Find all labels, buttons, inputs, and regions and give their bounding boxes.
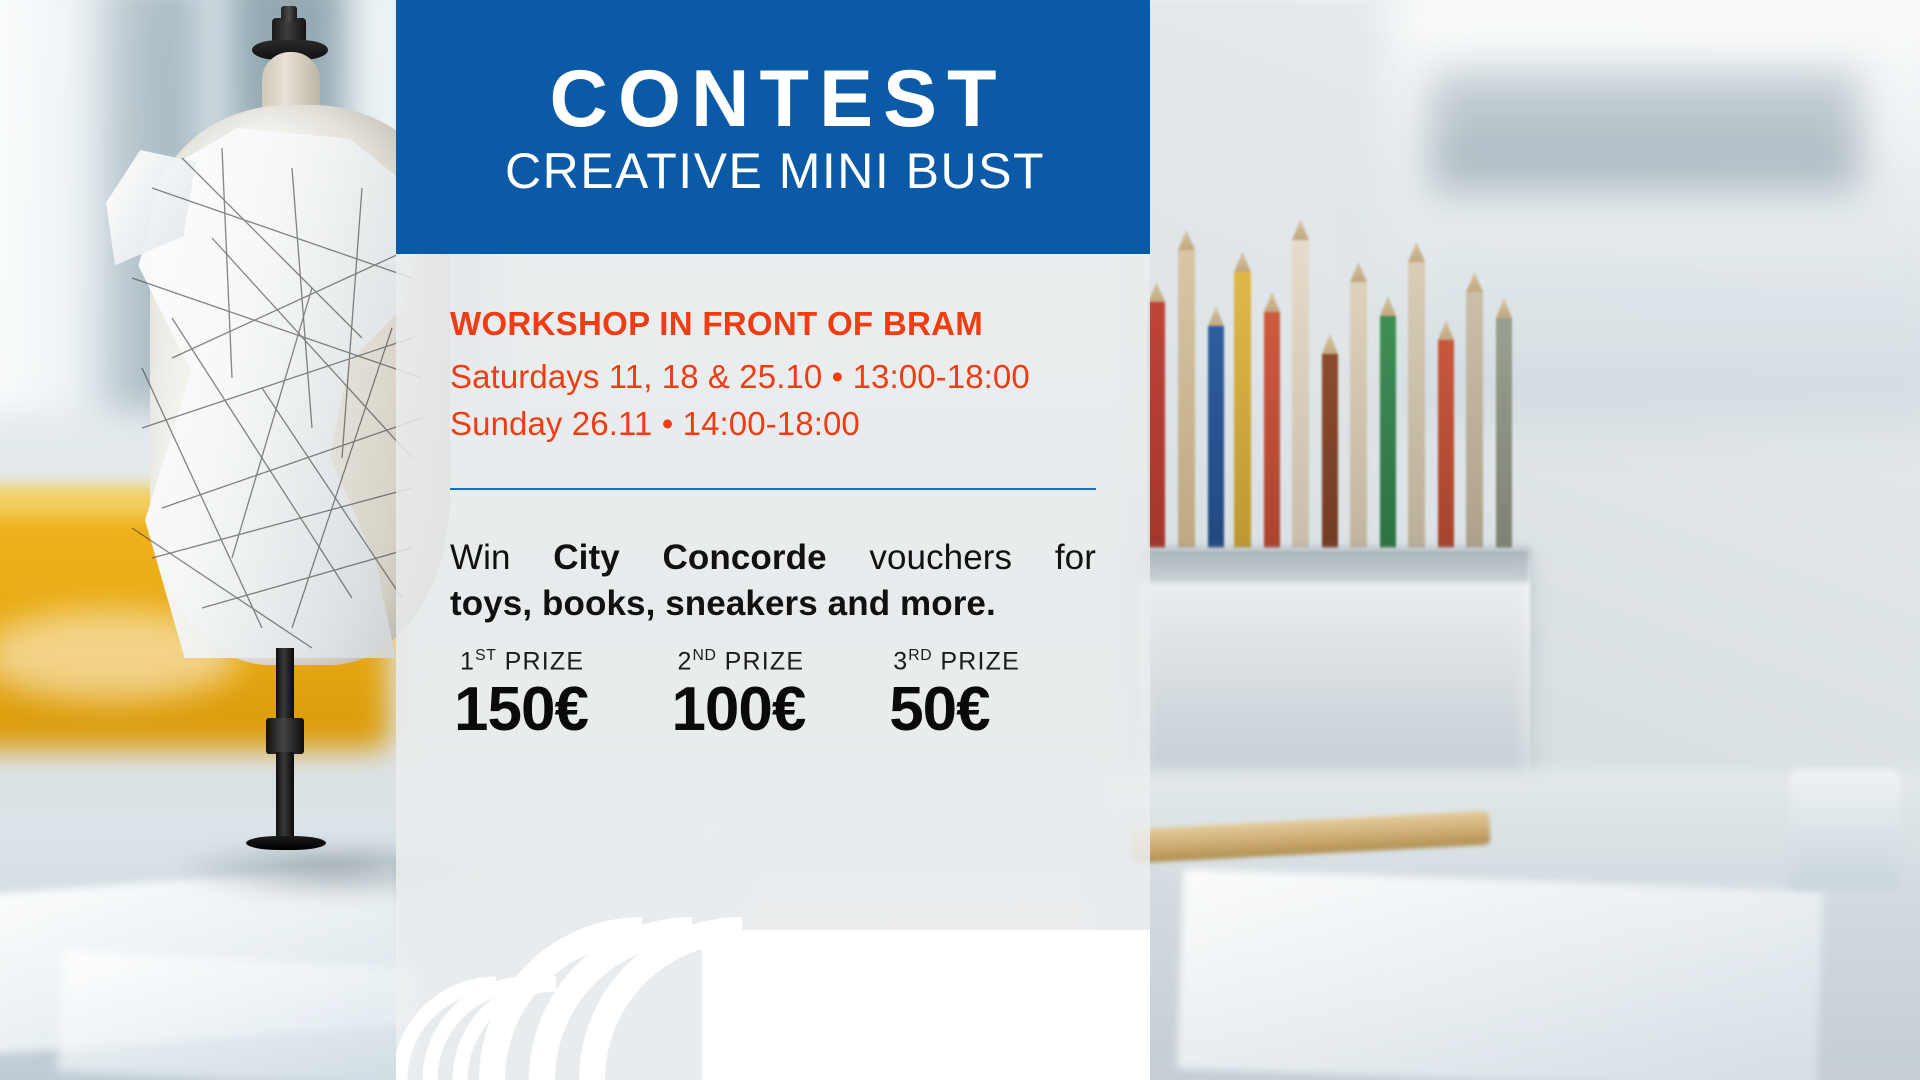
poster-header: CONTEST CREATIVE MINI BUST (396, 0, 1150, 254)
dress-sketch-lines (112, 128, 442, 658)
brand-name: City Concorde (553, 538, 826, 577)
blurred-shelf-bar (1430, 70, 1860, 190)
poster-card: CONTEST CREATIVE MINI BUST WORKSHOP IN F… (396, 0, 1150, 1080)
prize-word-first: PRIZE (496, 647, 584, 675)
glass-jar (1790, 770, 1900, 890)
prize-rank-first: 1 (460, 647, 475, 675)
workshop-schedule-sunday: Sunday 26.11 • 14:00-18:00 (450, 401, 1096, 448)
prize-ordinal-third: RD (908, 647, 932, 664)
concentric-arcs-logo-icon (396, 860, 1150, 1080)
workshop-heading: WORKSHOP IN FRONT OF BRAM (450, 306, 1096, 342)
prize-label-second: 2ND PRIZE (665, 648, 885, 674)
prize-word-second: PRIZE (717, 647, 805, 675)
workshop-schedule-saturdays: Saturdays 11, 18 & 25.10 • 13:00-18:00 (450, 354, 1096, 401)
prize-amount-second: 100€ (665, 678, 885, 741)
voucher-offer-line-1: Win City Concorde vouchers for (450, 536, 1096, 580)
mannequin-stand-lower-pole (276, 752, 294, 844)
pencil-holder-rim (1140, 548, 1530, 582)
prize-item-second: 2ND PRIZE 100€ (665, 648, 885, 742)
paper-sheet-right (1177, 869, 1824, 1080)
prize-list: 1ST PRIZE 150€ 2ND PRIZE 100€ 3RD PRIZE … (450, 648, 1096, 742)
page-subtitle: CREATIVE MINI BUST (501, 146, 1045, 196)
prize-label-first: 1ST PRIZE (450, 648, 665, 674)
pencil-holder (1140, 548, 1530, 778)
prize-ordinal-first: ST (475, 647, 496, 664)
brand-logo (396, 860, 1150, 1080)
paper-sheet-left-secondary (57, 951, 423, 1080)
prize-rank-third: 3 (893, 647, 908, 675)
mannequin-stand-base (246, 836, 326, 850)
voucher-offer-line-2: toys, books, sneakers and more. (450, 582, 1096, 626)
prize-rank-second: 2 (677, 647, 692, 675)
prize-item-first: 1ST PRIZE 150€ (450, 648, 665, 742)
prize-amount-third: 50€ (885, 678, 1092, 741)
prize-label-third: 3RD PRIZE (885, 648, 1092, 674)
section-divider (450, 488, 1096, 490)
prize-item-third: 3RD PRIZE 50€ (885, 648, 1092, 742)
poster-content: WORKSHOP IN FRONT OF BRAM Saturdays 11, … (396, 254, 1150, 741)
colored-pencils (1130, 200, 1550, 600)
prize-amount-first: 150€ (450, 678, 665, 741)
prize-word-third: PRIZE (932, 647, 1020, 675)
voucher-offer-prefix: Win (450, 538, 511, 577)
page-title: CONTEST (539, 59, 1006, 140)
mannequin-stand-collar (266, 718, 304, 754)
prize-ordinal-second: ND (693, 647, 717, 664)
voucher-offer-suffix: vouchers for (869, 538, 1096, 577)
